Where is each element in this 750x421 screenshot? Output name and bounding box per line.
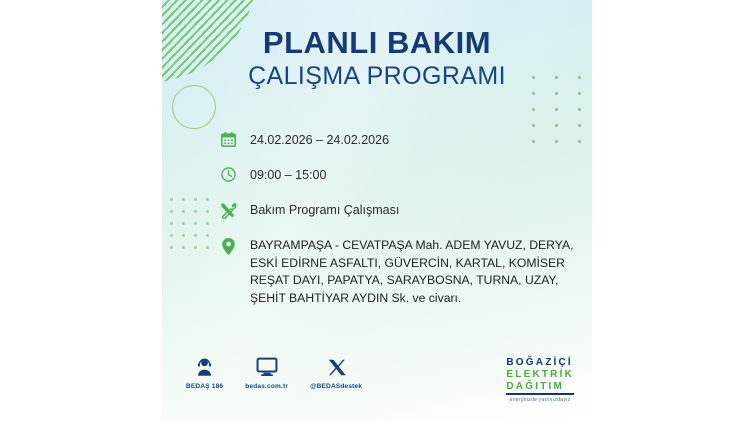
contact-x-social-label: @BEDASdestek: [310, 383, 362, 390]
contact-website-label: bedas.com.tr: [245, 383, 288, 390]
contact-channels: BEDAŞ 186 bedas.com.tr: [186, 355, 384, 390]
x-twitter-icon: [327, 355, 346, 379]
bedas-logo: BOĞAZİÇİ ELEKTRİK DAĞITIM enerjinizde ya…: [506, 357, 574, 403]
monitor-icon: [256, 355, 278, 379]
detail-value-time: 09:00 – 15:00: [250, 166, 326, 182]
page-title: PLANLI BAKIM: [162, 27, 592, 60]
brand-line-elektrik: ELEKTRİK: [506, 369, 574, 381]
detail-value-work-type: Bakım Programı Çalışması: [250, 201, 399, 217]
page-subtitle: ÇALIŞMA PROGRAMI: [162, 63, 592, 91]
detail-row-address: BAYRAMPAŞA - CEVATPAŞA Mah. ADEM YAVUZ, …: [216, 236, 576, 308]
brand-tagline: enerjinizde yanınızdayız: [506, 397, 574, 403]
detail-value-address: BAYRAMPAŞA - CEVATPAŞA Mah. ADEM YAVUZ, …: [250, 236, 576, 308]
calendar-icon: [216, 131, 240, 153]
contact-phone[interactable]: BEDAŞ 186: [186, 355, 223, 390]
brand-line-bogazici: BOĞAZİÇİ: [506, 357, 574, 369]
circle-outline-decoration: [172, 85, 216, 129]
tools-icon: [216, 201, 240, 223]
contact-website[interactable]: bedas.com.tr: [245, 355, 288, 390]
detail-row-time: 09:00 – 15:00: [216, 166, 576, 188]
contact-phone-label: BEDAŞ 186: [186, 383, 223, 390]
brand-line-dagitim: DAĞITIM: [506, 381, 574, 393]
location-pin-icon: [216, 236, 240, 259]
announcement-poster: PLANLI BAKIM ÇALIŞMA PROGRAMI: [162, 0, 592, 421]
detail-value-date: 24.02.2026 – 24.02.2026: [250, 131, 389, 147]
brand-divider: [506, 393, 574, 394]
clock-icon: [216, 166, 240, 188]
dot-grid-left-decoration: [170, 198, 209, 249]
poster-footer: BEDAŞ 186 bedas.com.tr: [162, 355, 592, 407]
screenshot-root: PLANLI BAKIM ÇALIŞMA PROGRAMI: [0, 0, 750, 421]
outage-details-list: 24.02.2026 – 24.02.2026 09:00 – 15:00: [216, 131, 576, 308]
detail-row-work-type: Bakım Programı Çalışması: [216, 201, 576, 223]
contact-x-social[interactable]: @BEDASdestek: [310, 355, 362, 390]
detail-row-date: 24.02.2026 – 24.02.2026: [216, 131, 576, 153]
poster-title-block: PLANLI BAKIM ÇALIŞMA PROGRAMI: [162, 27, 592, 90]
support-agent-icon: [194, 355, 215, 379]
